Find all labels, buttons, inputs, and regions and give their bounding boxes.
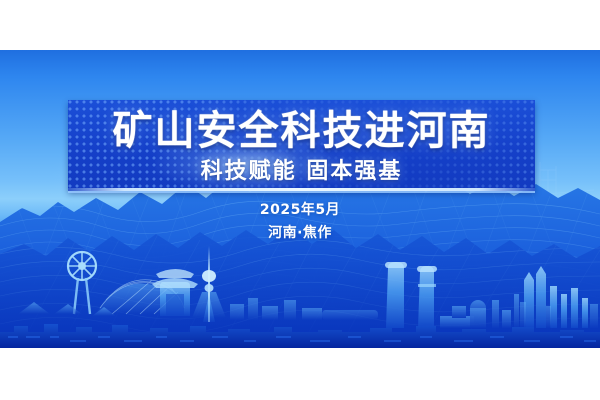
- skyscraper-cluster-group: [520, 266, 598, 328]
- riverside-bar: [322, 310, 378, 320]
- foreground-base-strip: [0, 324, 600, 348]
- pagoda-gate-group: [152, 269, 198, 316]
- midleft-block-buildings: [230, 298, 322, 320]
- page-subtitle: 科技赋能 固本强基: [68, 157, 535, 187]
- twin-chimney-towers-group: [385, 262, 437, 328]
- event-meta: 2025年5月 河南·焦作: [0, 200, 600, 243]
- title-banner: 矿山安全科技进河南 科技赋能 固本强基: [68, 100, 535, 191]
- stadium-dome-group: [96, 280, 186, 314]
- poster-canvas: 矿山安全科技进河南 科技赋能 固本强基 2025年5月 河南·焦作: [0, 0, 600, 400]
- ferris-wheel-group: [68, 252, 96, 314]
- tv-tower-group: [202, 246, 216, 322]
- poster-artwork-band: 矿山安全科技进河南 科技赋能 固本强基 2025年5月 河南·焦作: [0, 50, 600, 348]
- banner-bottom-highlight: [68, 188, 535, 191]
- event-date: 2025年5月: [0, 200, 600, 220]
- page-title: 矿山安全科技进河南: [68, 105, 535, 157]
- industrial-plant-group: [440, 294, 519, 328]
- pagoda-wing-buildings: [192, 292, 226, 318]
- city-skyline-silhouette: [0, 228, 600, 348]
- town-rooftops-group: [18, 302, 116, 316]
- event-location: 河南·焦作: [0, 223, 600, 243]
- base-strip-windows: [8, 336, 596, 342]
